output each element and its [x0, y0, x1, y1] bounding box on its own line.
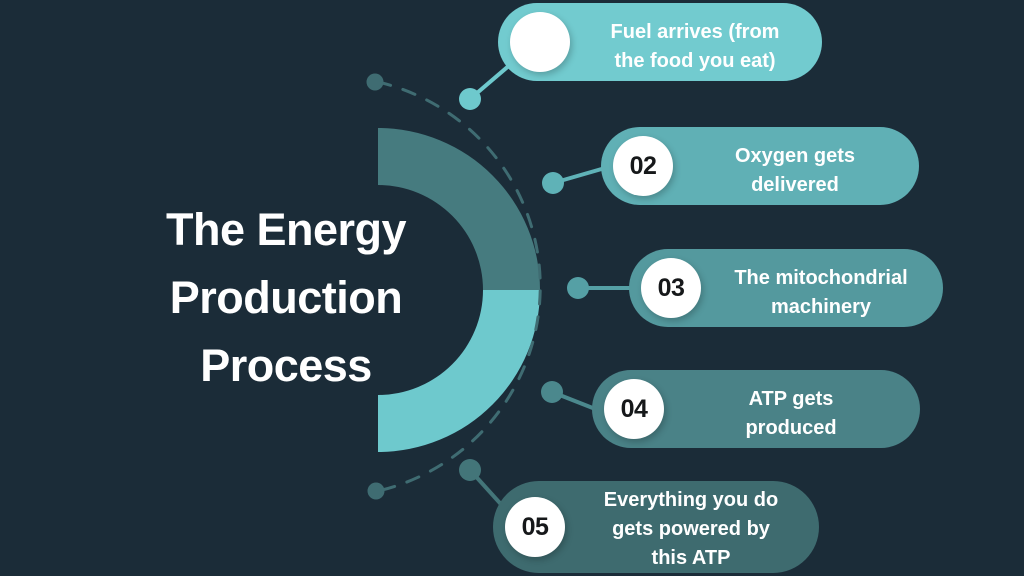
step-label-4-line-1: ATP gets	[674, 385, 908, 414]
node-dot-step-1	[459, 88, 481, 110]
step-number-2: 02	[630, 152, 657, 181]
title-line-3: Process	[86, 332, 486, 400]
step-item-3[interactable]: 03 The mitochondrial machinery	[629, 249, 943, 327]
step-badge-4: 04	[604, 379, 664, 439]
step-label-1-line-1: Fuel arrives (from	[580, 18, 810, 47]
title-line-1: The Energy	[86, 196, 486, 264]
step-label-2-line-2: delivered	[683, 171, 907, 200]
step-item-5[interactable]: 05 Everything you do gets powered by thi…	[493, 481, 819, 573]
step-label-5-line-3: this ATP	[575, 544, 807, 573]
step-label-5: Everything you do gets powered by this A…	[575, 486, 807, 573]
dashed-path-endpoint-dot-bottom	[368, 483, 385, 500]
step-label-1-line-2: the food you eat)	[580, 47, 810, 76]
step-badge-3: 03	[641, 258, 701, 318]
node-dot-step-3	[567, 277, 589, 299]
step-badge-5: 05	[505, 497, 565, 557]
infographic-canvas: The Energy Production Process Fuel arriv…	[0, 0, 1024, 576]
step-item-1[interactable]: Fuel arrives (from the food you eat)	[498, 3, 822, 81]
step-label-3-line-2: machinery	[711, 293, 931, 322]
step-label-3-line-1: The mitochondrial	[711, 264, 931, 293]
title-line-2: Production	[86, 264, 486, 332]
node-dot-step-5	[459, 459, 481, 481]
step-label-1: Fuel arrives (from the food you eat)	[580, 18, 810, 76]
step-item-2[interactable]: 02 Oxygen gets delivered	[601, 127, 919, 205]
node-dot-step-4	[541, 381, 563, 403]
step-label-2-line-1: Oxygen gets	[683, 142, 907, 171]
step-item-4[interactable]: 04 ATP gets produced	[592, 370, 920, 448]
page-title: The Energy Production Process	[86, 196, 486, 400]
step-label-5-line-1: Everything you do	[575, 486, 807, 515]
step-label-3: The mitochondrial machinery	[711, 264, 931, 322]
step-number-5: 05	[522, 513, 549, 542]
step-label-2: Oxygen gets delivered	[683, 142, 907, 200]
step-badge-2: 02	[613, 136, 673, 196]
dashed-path-endpoint-dot-top	[367, 74, 384, 91]
step-label-5-line-2: gets powered by	[575, 515, 807, 544]
step-badge-1	[510, 12, 570, 72]
node-dot-step-2	[542, 172, 564, 194]
step-number-3: 03	[658, 274, 685, 303]
step-label-4: ATP gets produced	[674, 385, 908, 443]
step-label-4-line-2: produced	[674, 414, 908, 443]
step-number-4: 04	[621, 395, 648, 424]
